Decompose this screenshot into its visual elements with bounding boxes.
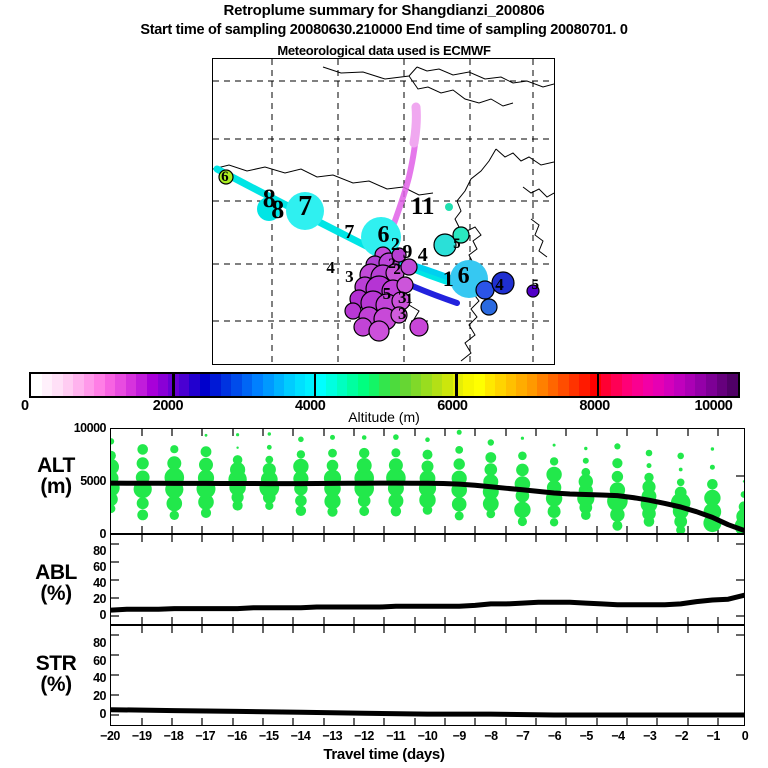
alt-bubble (111, 459, 119, 475)
alt-bubble (236, 447, 238, 449)
x-tick-label: −15 (254, 729, 284, 743)
abl-plot-panel[interactable] (110, 534, 745, 625)
alt-bubble (263, 463, 276, 476)
x-tick-label: −1 (698, 729, 728, 743)
alt-bubble (422, 461, 434, 473)
abl-y-tick-labels: 806040200 (42, 534, 106, 625)
alt-bubble (546, 467, 561, 482)
alt-bubble (298, 437, 304, 443)
alt-bubble (485, 463, 498, 476)
retroplume-map[interactable]: 688776211439451645225331 (212, 58, 555, 365)
alt-bubble (704, 490, 720, 506)
x-tick-label: −3 (635, 729, 665, 743)
alt-bubble (550, 518, 558, 526)
y-tick-label: 60 (42, 560, 106, 574)
str-plot-panel[interactable] (110, 625, 745, 726)
map-age-label: 6 (378, 223, 390, 247)
alt-bubble (137, 444, 148, 455)
alt-bubble (236, 433, 239, 436)
str-plot-canvas (111, 626, 744, 725)
x-tick-label: −6 (540, 729, 570, 743)
alt-bubble (296, 506, 306, 516)
x-tick-label: −19 (127, 729, 157, 743)
alt-bubble (647, 463, 652, 468)
alt-bubble (111, 438, 114, 444)
alt-bubble (452, 497, 467, 512)
x-tick-label: −9 (444, 729, 474, 743)
alt-bubble (137, 497, 149, 509)
map-age-label: 9 (402, 242, 412, 262)
alt-bubble (518, 517, 527, 526)
alt-bubble (516, 464, 529, 477)
alt-bubble (170, 511, 179, 520)
alt-bubble (199, 458, 213, 472)
colorbar-divider (597, 374, 600, 396)
abl-series-line (111, 595, 744, 610)
y-tick-label: 20 (42, 689, 106, 703)
alt-plot-panel[interactable] (110, 428, 745, 534)
y-tick-label: 80 (42, 544, 106, 558)
alt-bubble (642, 480, 655, 493)
alt-bubble (267, 445, 272, 450)
abl-plot-canvas (111, 535, 744, 624)
alt-bubble (583, 458, 589, 464)
alt-bubble (137, 457, 149, 469)
map-age-label: 5 (383, 285, 392, 302)
y-tick-label: 0 (42, 608, 106, 622)
y-tick-label: 80 (42, 636, 106, 650)
alt-bubble (359, 506, 369, 516)
alt-bubble (330, 435, 335, 440)
page-title: Retroplume summary for Shangdianzi_20080… (0, 2, 768, 19)
map-age-label: 1 (443, 268, 454, 290)
alt-bubble (553, 444, 556, 447)
x-tick-label: −7 (508, 729, 538, 743)
alt-bubble (488, 439, 494, 445)
alt-bubble (679, 468, 683, 472)
alt-bubble (327, 460, 339, 472)
map-age-label: 3 (345, 268, 354, 285)
map-age-label: 6 (221, 170, 229, 185)
alt-bubble (518, 452, 527, 461)
map-age-label: 5 (453, 237, 461, 252)
map-age-label: 1 (405, 292, 413, 307)
y-tick-label: 40 (42, 576, 106, 590)
alt-bubble (677, 479, 685, 487)
x-tick-label: −12 (349, 729, 379, 743)
x-tick-label: −11 (381, 729, 411, 743)
str-y-ticks (111, 635, 744, 715)
alt-bubble (201, 446, 212, 457)
alt-bubble (454, 458, 465, 469)
alt-bubble (581, 468, 590, 477)
alt-bubble (268, 432, 271, 435)
map-age-label: 3 (398, 305, 407, 322)
map-age-label: 6 (458, 264, 470, 288)
colorbar-divider (455, 374, 458, 396)
map-trajectory-labels: 688776211439451645225331 (213, 59, 554, 364)
str-series-line (111, 710, 744, 715)
map-age-label: 5 (531, 278, 539, 293)
met-data-line: Meteorological data used is ECMWF (0, 43, 768, 58)
x-tick-label: −5 (571, 729, 601, 743)
alt-bubble (297, 450, 305, 458)
alt-bubble (710, 465, 715, 470)
map-age-label: 2 (391, 235, 400, 253)
colorbar-axis-title: Altitude (m) (0, 409, 768, 425)
x-tick-label: −2 (667, 729, 697, 743)
alt-bubble (357, 458, 372, 473)
alt-bubble (711, 447, 714, 450)
altitude-colorbar[interactable] (29, 372, 740, 398)
alt-bubble (644, 473, 653, 482)
colorbar-dividers (31, 374, 738, 396)
alt-bubble (170, 445, 178, 453)
map-age-label: 7 (298, 193, 312, 221)
alt-bubble (265, 456, 273, 464)
x-tick-label: −14 (286, 729, 316, 743)
alt-bubble (167, 456, 181, 470)
alt-bubble (550, 457, 558, 465)
alt-bubble (389, 458, 403, 472)
alt-bubble (741, 491, 744, 498)
y-tick-label: 60 (42, 654, 106, 668)
alt-bubble (675, 487, 687, 499)
alt-bubble (612, 521, 622, 531)
map-age-label: 11 (411, 194, 435, 219)
alt-bubble (233, 455, 243, 465)
alt-bubble (293, 459, 308, 474)
alt-bubble (677, 453, 684, 460)
alt-bubble (612, 471, 623, 482)
alt-bubble (514, 502, 530, 518)
x-tick-label: −17 (190, 729, 220, 743)
sampling-time-line: Start time of sampling 20080630.210000 E… (0, 22, 768, 38)
alt-bubble (455, 511, 464, 520)
alt-bubble (485, 452, 496, 463)
str-y-tick-labels: 806040200 (42, 625, 106, 726)
colorbar-divider (172, 374, 175, 396)
alt-bubble (111, 451, 116, 461)
colorbar-divider (314, 374, 317, 396)
alt-bubble (425, 437, 430, 442)
alt-bubble (646, 450, 653, 457)
alt-bubble (455, 446, 463, 454)
map-age-label: 2 (393, 263, 401, 278)
map-age-label: 4 (495, 276, 504, 293)
alt-bubble (295, 495, 307, 507)
alt-bubble (359, 448, 369, 458)
alt-bubble (362, 435, 367, 440)
map-age-label: 7 (344, 222, 354, 242)
map-age-label: 8 (271, 197, 284, 223)
y-tick-label: 5000 (42, 474, 106, 488)
x-tick-label: −16 (222, 729, 252, 743)
x-axis-title: Travel time (days) (0, 746, 768, 763)
alt-plot-canvas (111, 429, 744, 533)
x-tick-label: −4 (603, 729, 633, 743)
x-tick-label: −13 (317, 729, 347, 743)
x-tick-label: −8 (476, 729, 506, 743)
x-tick-label: −20 (95, 729, 125, 743)
alt-bubble (137, 510, 148, 521)
alt-bubble (328, 449, 337, 458)
x-tick-label: −18 (159, 729, 189, 743)
y-tick-label: 20 (42, 592, 106, 606)
alt-bubble (743, 480, 744, 482)
alt-bubble (457, 430, 462, 435)
alt-bubble (612, 458, 622, 468)
alt-bubble (707, 479, 718, 490)
alt-y-tick-labels: 1000050000 (42, 428, 106, 534)
y-tick-label: 40 (42, 671, 106, 685)
alt-bubble (548, 505, 561, 518)
alt-bubble (521, 437, 524, 440)
y-tick-label: 10000 (42, 421, 106, 435)
alt-bubble (393, 434, 399, 440)
x-tick-label: −10 (413, 729, 443, 743)
alt-bubble (614, 443, 620, 449)
alt-bubble (584, 447, 587, 450)
alt-bubble (423, 450, 433, 460)
map-age-label: 4 (418, 245, 428, 265)
x-axis-tick-labels: −20−19−18−17−16−15−14−13−12−11−10−9−8−7−… (0, 729, 768, 745)
x-tick-label: 0 (730, 729, 760, 743)
alt-bubble (205, 434, 208, 437)
alt-bubble (391, 448, 400, 457)
y-tick-label: 0 (42, 707, 106, 721)
map-age-label: 4 (326, 259, 335, 276)
